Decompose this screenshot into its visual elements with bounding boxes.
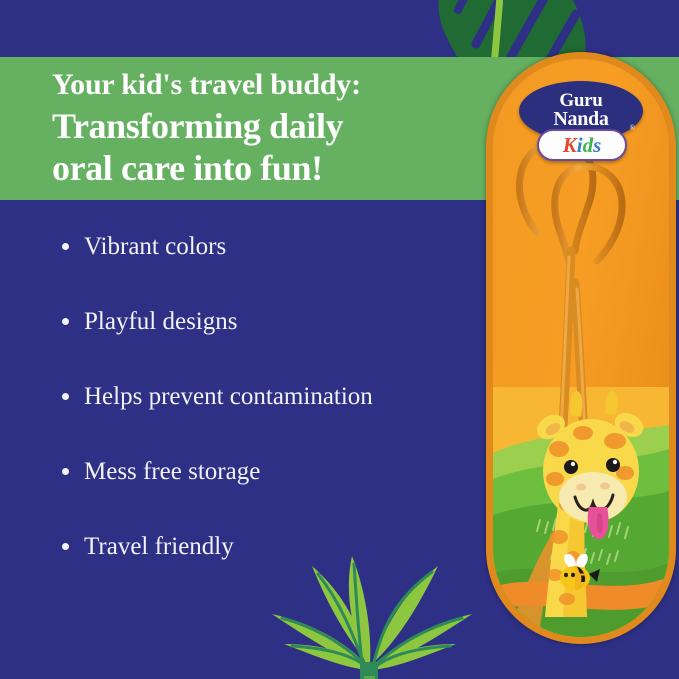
- benefit-item: Mess free storage: [62, 457, 482, 532]
- headline-text-block: Your kid's travel buddy: Transforming da…: [52, 65, 472, 189]
- bullet-icon: [62, 468, 69, 475]
- benefit-item: Travel friendly: [62, 532, 482, 607]
- benefit-label: Vibrant colors: [84, 233, 226, 260]
- benefit-label: Mess free storage: [84, 458, 260, 485]
- benefit-item: Vibrant colors: [62, 232, 482, 307]
- benefit-item: Helps prevent contamination: [62, 382, 482, 457]
- kids-sub-brand: K i d s: [537, 129, 627, 161]
- kids-letter-d: d: [583, 134, 594, 156]
- promo-image: Your kid's travel buddy: Transforming da…: [0, 0, 679, 679]
- headline-line-3: oral care into fun!: [52, 147, 472, 189]
- kids-letter-s: s: [593, 134, 601, 156]
- benefit-label: Travel friendly: [84, 533, 234, 560]
- bullet-icon: [62, 243, 69, 250]
- benefit-item: Playful designs: [62, 307, 482, 382]
- bullet-icon: [62, 318, 69, 325]
- bee-icon: [555, 554, 601, 594]
- benefit-label: Helps prevent contamination: [84, 383, 373, 410]
- product-package: Guru Nanda ® K i d s: [486, 52, 676, 644]
- benefit-label: Playful designs: [84, 308, 237, 335]
- headline-line-1: Your kid's travel buddy:: [52, 65, 472, 105]
- brand-logo: Guru Nanda ® K i d s: [519, 81, 643, 141]
- bullet-icon: [62, 393, 69, 400]
- registered-mark: ®: [630, 124, 635, 132]
- brand-name-bottom: Nanda: [519, 109, 643, 129]
- headline-line-2: Transforming daily: [52, 105, 472, 147]
- package-face: Guru Nanda ® K i d s: [493, 59, 669, 637]
- bullet-icon: [62, 543, 69, 550]
- kids-letter-k: K: [563, 134, 577, 156]
- benefits-list: Vibrant colors Playful designs Helps pre…: [62, 232, 482, 607]
